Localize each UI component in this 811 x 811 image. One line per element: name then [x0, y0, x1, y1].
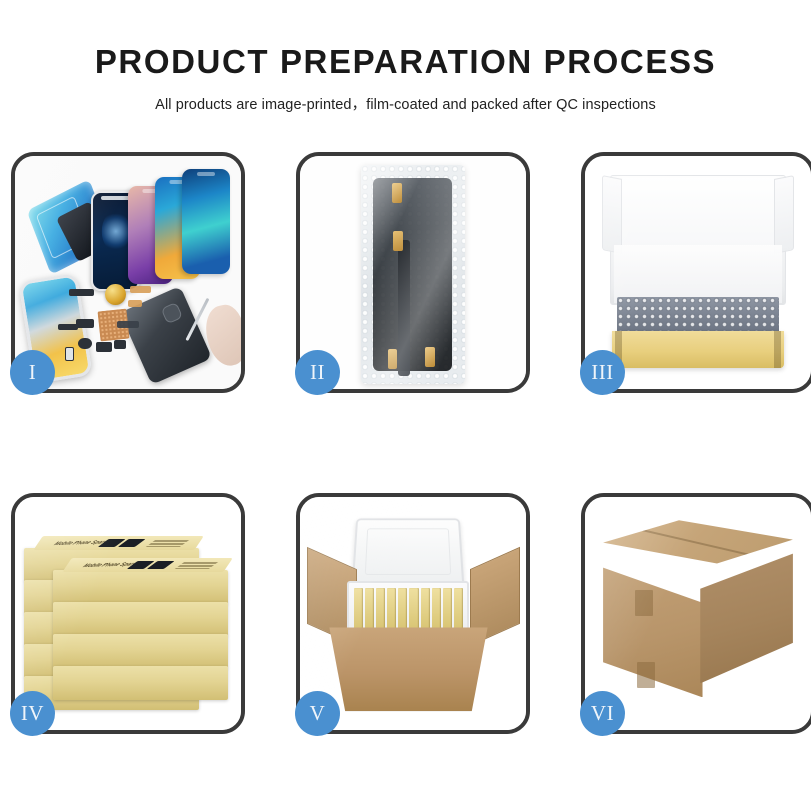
part-antenna: [58, 324, 78, 330]
packed-box: [365, 588, 374, 630]
box-label-product-images: [98, 539, 146, 547]
step-badge-i: I: [10, 350, 55, 395]
step-panel-vi: VI: [581, 493, 811, 734]
packed-box: [432, 588, 441, 630]
bubble-wrap-sleeve: [361, 165, 465, 384]
box-label-spec-lines: [145, 539, 190, 547]
part-sim-tray: [114, 340, 125, 349]
stacked-box-right-1: Mobile Phone Spare Parts: [53, 570, 228, 604]
step-panel-ii: II: [296, 152, 530, 393]
box-top-face: Mobile Phone Spare Parts: [33, 536, 203, 550]
carton-tape-upper: [635, 590, 653, 616]
box-label-product-images: [127, 561, 175, 569]
step-panel-i: I: [11, 152, 245, 393]
camera-module-icon: [160, 301, 183, 324]
box-label: Mobile Phone Spare Parts: [81, 560, 220, 570]
step-image-i: [15, 156, 241, 389]
kraft-box-front: [612, 331, 784, 368]
packed-boxes-row: [354, 588, 462, 630]
part-flex-cable-a: [130, 286, 150, 293]
step-image-vi: [585, 497, 811, 730]
process-steps-grid: I II: [11, 152, 800, 734]
product-preparation-infographic: PRODUCT PREPARATION PROCESS All products…: [0, 0, 811, 811]
header: PRODUCT PREPARATION PROCESS All products…: [0, 0, 811, 114]
part-flex-cable-b: [128, 300, 142, 307]
bubble-wrap-contents: [617, 297, 780, 334]
packed-box: [376, 588, 385, 630]
step-panel-iv: Mobile Phone Spare Parts M: [11, 493, 245, 734]
part-camera: [96, 342, 112, 351]
step-panel-v: V: [296, 493, 530, 734]
packed-box: [409, 588, 418, 630]
page-title: PRODUCT PREPARATION PROCESS: [0, 44, 811, 80]
step-image-v: [300, 497, 526, 730]
box-lid-flap-right: [774, 175, 794, 253]
image-sheen: [361, 165, 465, 384]
part-button: [78, 338, 92, 350]
step-badge-vi: VI: [580, 691, 625, 736]
step-badge-ii: II: [295, 350, 340, 395]
vibration-motor-part: [105, 284, 125, 305]
packed-box: [421, 588, 430, 630]
step-image-iii: [585, 156, 811, 389]
spec-line: [175, 568, 211, 569]
carton-tape-lower: [637, 662, 655, 688]
part-flex-cable-c: [117, 321, 140, 328]
phone-notch-icon: [197, 172, 215, 176]
part-bracket: [76, 319, 94, 328]
part-speaker: [69, 289, 94, 296]
carton-front-panel: [329, 627, 487, 711]
step-image-iv: Mobile Phone Spare Parts M: [15, 497, 241, 730]
stacked-box-right-4: [53, 666, 228, 700]
phone-teal: [182, 169, 229, 274]
box-stack: Mobile Phone Spare Parts M: [24, 516, 232, 716]
packed-box: [443, 588, 452, 630]
carton-right-face: [700, 548, 793, 683]
foam-box-lid: [352, 518, 465, 586]
step-badge-v: V: [295, 691, 340, 736]
step-badge-iv: IV: [10, 691, 55, 736]
step-image-ii: [300, 156, 526, 389]
foam-liner: [614, 245, 781, 303]
step-panel-iii: III: [581, 152, 811, 393]
stacked-box-right-2: [53, 602, 228, 636]
page-subtitle: All products are image-printed，film-coat…: [0, 93, 811, 114]
packed-box: [354, 588, 363, 630]
spec-line: [146, 546, 182, 547]
stacked-box-right-3: [53, 634, 228, 668]
part-sensor: [65, 347, 74, 361]
packed-box: [454, 588, 463, 630]
step-badge-iii: III: [580, 350, 625, 395]
packed-box: [387, 588, 396, 630]
box-label-spec-lines: [174, 561, 219, 569]
box-lid-flap-left: [602, 175, 622, 253]
box-label: Mobile Phone Spare Parts: [52, 538, 191, 548]
box-top-face: Mobile Phone Spare Parts: [62, 558, 232, 572]
packed-box: [398, 588, 407, 630]
